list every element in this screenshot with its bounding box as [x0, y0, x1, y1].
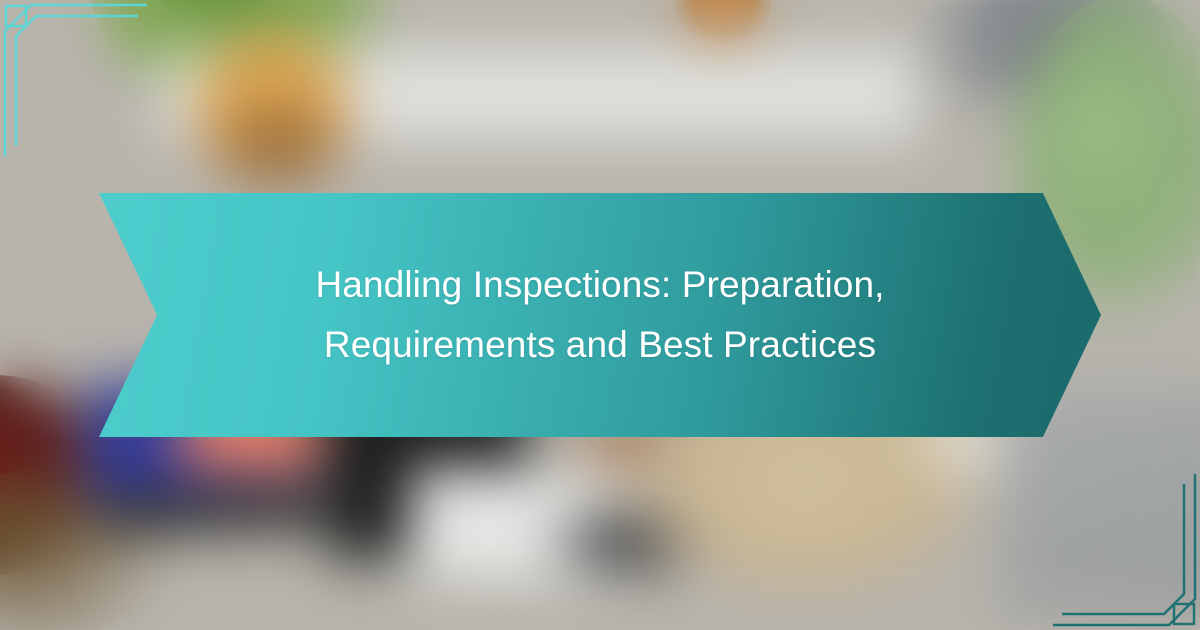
page-title-line-2: Requirements and Best Practices: [324, 315, 876, 375]
page-title: Handling Inspections: Preparation, Requi…: [99, 193, 1101, 437]
title-banner: Handling Inspections: Preparation, Requi…: [99, 193, 1101, 437]
page-title-line-1: Handling Inspections: Preparation,: [315, 255, 884, 315]
banner-stage: Handling Inspections: Preparation, Requi…: [0, 0, 1200, 630]
